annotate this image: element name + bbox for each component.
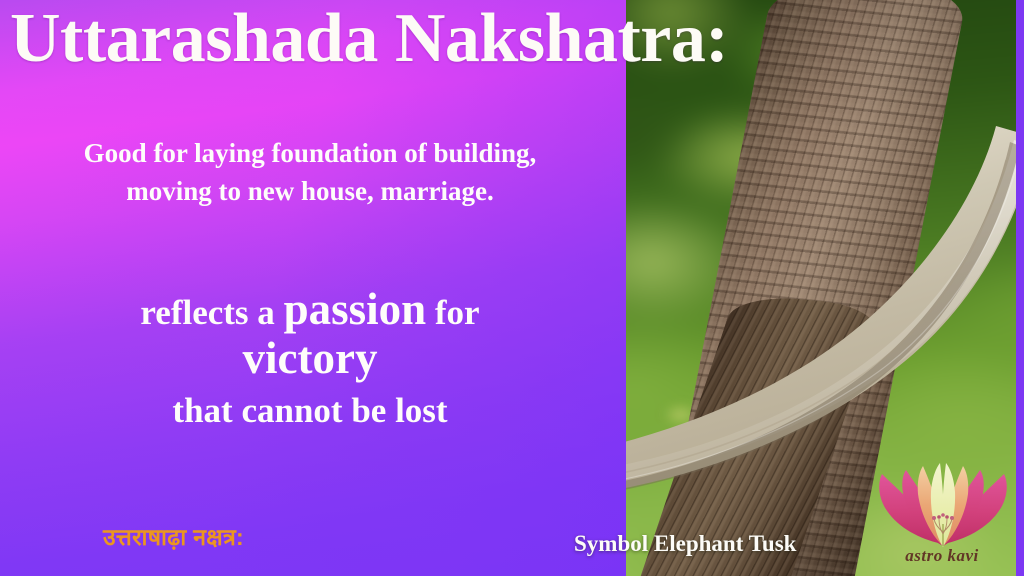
description-line-1: Good for laying foundation of building,	[0, 136, 620, 172]
quote-emphasis-victory: victory	[0, 334, 620, 384]
quote-line-3: that cannot be lost	[0, 390, 620, 432]
description-line-2: moving to new house, marriage.	[0, 174, 620, 210]
image-caption: Symbol Elephant Tusk	[574, 531, 796, 557]
quote-emphasis-passion: passion	[284, 284, 427, 334]
quote-line-1: reflects a passion for	[0, 283, 620, 336]
astro-kavi-logo[interactable]: astro kavi	[866, 462, 1018, 574]
logo-wordmark: astro kavi	[866, 546, 1018, 566]
quote-suffix: for	[426, 293, 479, 332]
tusk-body	[626, 126, 1016, 492]
quote-prefix: reflects a	[140, 293, 283, 332]
lotus-flower-icon	[874, 462, 1012, 548]
sanskrit-nakshatra-label: उत्तराषाढ़ा नक्षत्र:	[103, 520, 244, 552]
page-title: Uttarashada Nakshatra:	[10, 2, 728, 76]
nakshatra-infographic-canvas: Uttarashada Nakshatra: Good for laying f…	[0, 0, 1024, 576]
description-block: Good for laying foundation of building, …	[0, 136, 620, 209]
quote-block: reflects a passion for victory that cann…	[0, 283, 620, 432]
